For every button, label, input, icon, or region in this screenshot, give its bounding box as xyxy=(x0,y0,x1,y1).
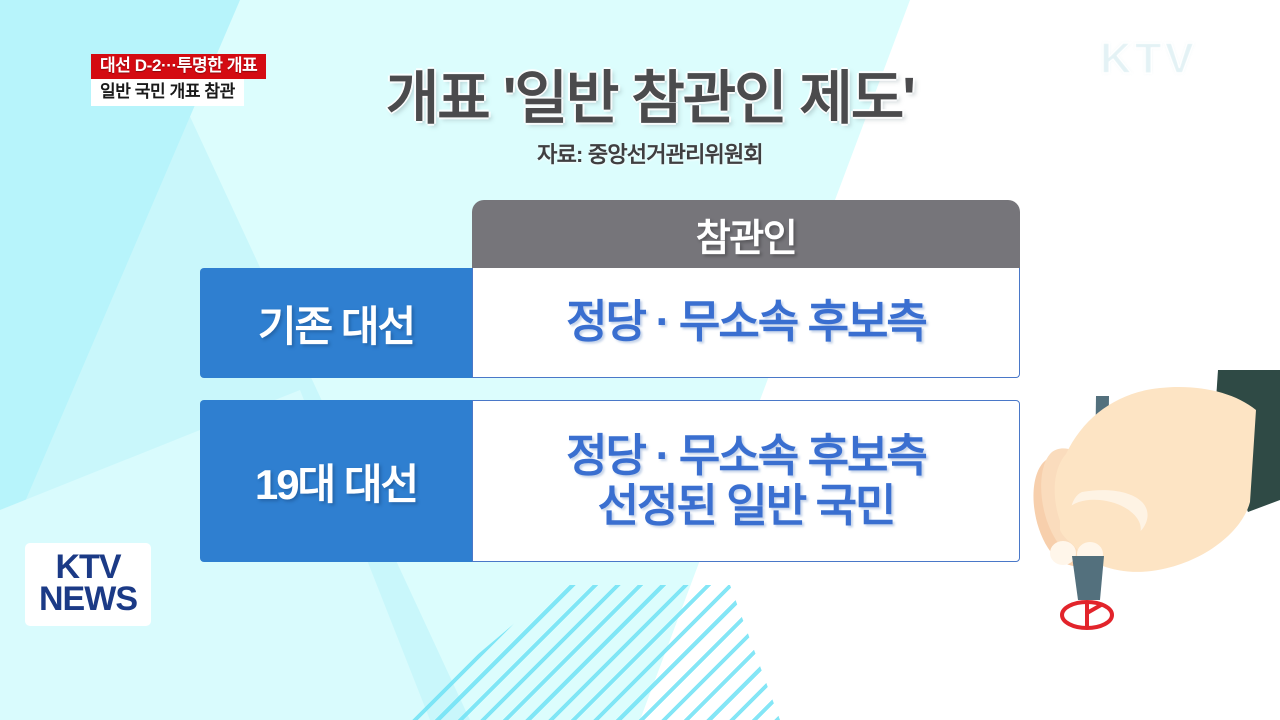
table-row-value-cell: 정당 · 무소속 후보측 xyxy=(472,268,1020,378)
banner-headline-primary: 대선 D-2···투명한 개표 xyxy=(91,54,266,79)
table-column-header-label: 참관인 xyxy=(696,207,796,262)
broadcast-graphic: KTV 대선 D-2···투명한 개표 일반 국민 개표 참관 개표 '일반 참… xyxy=(0,0,1280,720)
table-row-label: 기존 대선 xyxy=(258,293,414,354)
source-credit: 자료: 중앙선거관리위원회 xyxy=(330,137,970,169)
ktv-news-logo-line1: KTV xyxy=(39,551,137,583)
comparison-table: 참관인 기존 대선 정당 · 무소속 후보측 19대 대선 정당 · 무소속 후… xyxy=(200,200,1020,562)
ktv-watermark: KTV xyxy=(1100,34,1197,84)
table-row-value-line: 정당 · 무소속 후보측 xyxy=(566,431,926,481)
table-column-header: 참관인 xyxy=(472,200,1020,268)
table-row: 기존 대선 정당 · 무소속 후보측 xyxy=(200,268,1020,378)
table-row: 19대 대선 정당 · 무소속 후보측 선정된 일반 국민 xyxy=(200,400,1020,562)
ktv-news-logo-line2: NEWS xyxy=(39,583,137,615)
ballot-stamp-icon xyxy=(1008,370,1280,660)
news-banner: 대선 D-2···투명한 개표 일반 국민 개표 참관 xyxy=(91,54,266,106)
table-row-label-cell: 기존 대선 xyxy=(200,268,472,378)
banner-headline-secondary: 일반 국민 개표 참관 xyxy=(91,79,244,106)
headline-block: 개표 '일반 참관인 제도' 자료: 중앙선거관리위원회 xyxy=(330,68,970,169)
page-title: 개표 '일반 참관인 제도' xyxy=(330,68,970,131)
ktv-news-logo: KTV NEWS xyxy=(25,543,151,626)
table-row-label: 19대 대선 xyxy=(255,451,417,512)
hand-holding-ballot-stamp-illustration xyxy=(1008,370,1280,660)
table-row-label-cell: 19대 대선 xyxy=(200,400,472,562)
table-row-value-line: 선정된 일반 국민 xyxy=(598,481,895,531)
table-row-value-cell: 정당 · 무소속 후보측 선정된 일반 국민 xyxy=(472,400,1020,562)
table-row-value-line: 정당 · 무소속 후보측 xyxy=(566,297,926,347)
